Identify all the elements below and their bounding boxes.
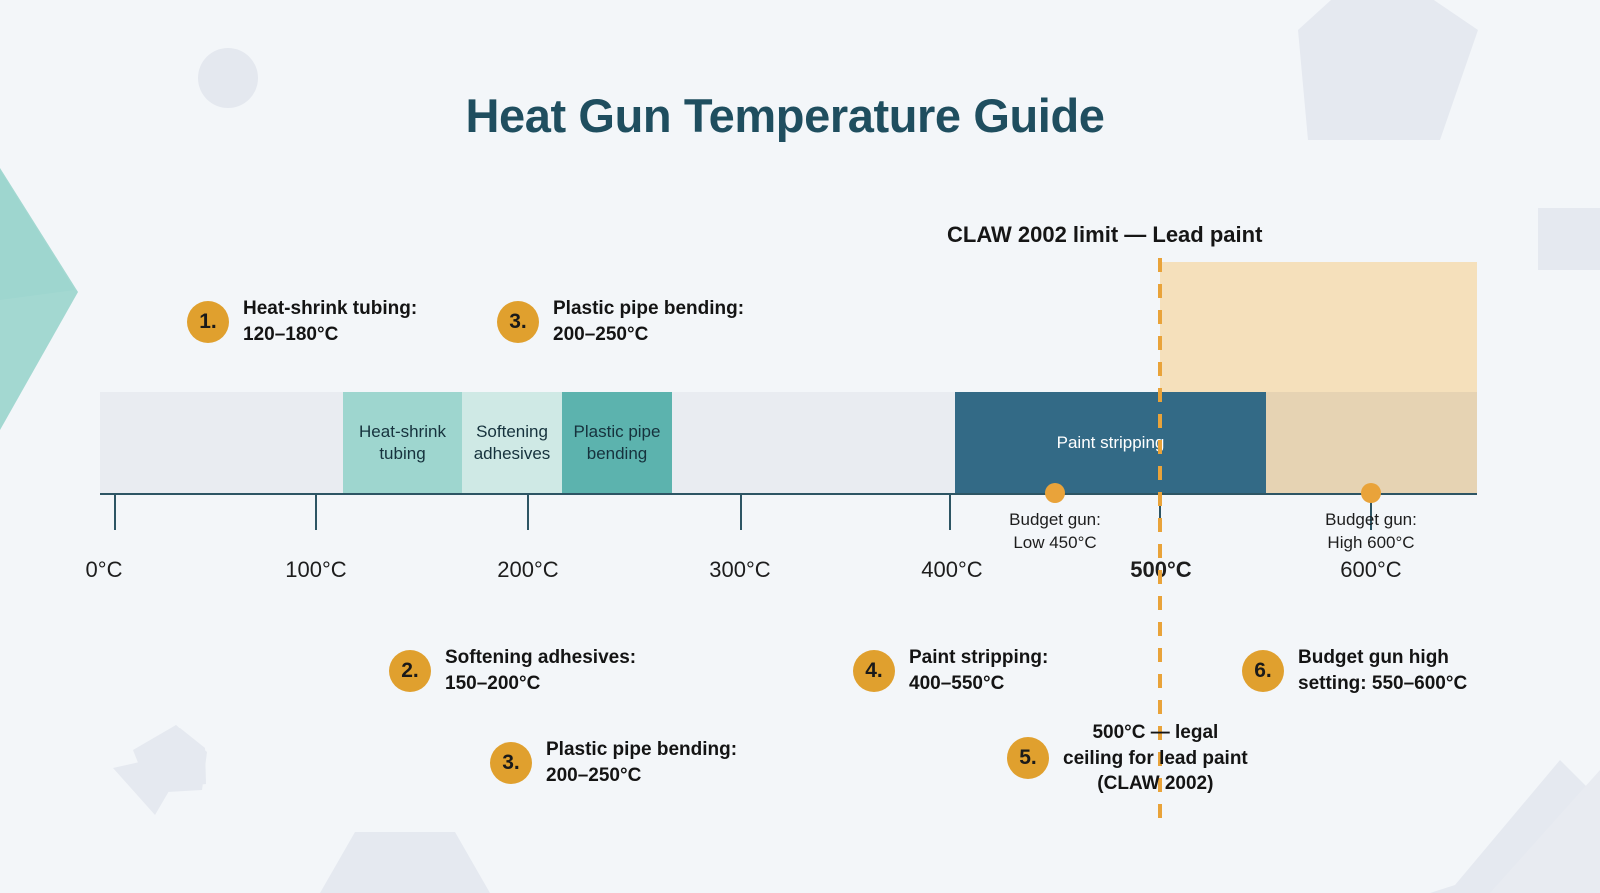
marker-label-budget-high: Budget gun: High 600°C [1325,509,1417,555]
axis-label-300: 300°C [709,557,770,583]
callout-text: Paint stripping: 400–550°C [909,645,1048,696]
callout-badge: 5. [1007,737,1049,779]
callout-6[interactable]: 6. Budget gun high setting: 550–600°C [1242,645,1467,696]
callout-text: Plastic pipe bending: 200–250°C [546,737,737,788]
infographic-canvas: Heat Gun Temperature Guide CLAW 2002 lim… [0,0,1600,893]
callout-text: Plastic pipe bending: 200–250°C [553,296,744,347]
callout-5[interactable]: 5. 500°C — legal ceiling for lead paint … [1007,720,1248,797]
callout-3-top[interactable]: 3. Plastic pipe bending: 200–250°C [497,296,744,347]
axis-label-0: 0°C [86,557,123,583]
callout-text: Softening adhesives: 150–200°C [445,645,636,696]
axis-tick-300 [740,495,742,530]
band-label: Paint stripping [1057,432,1165,453]
callout-badge: 6. [1242,650,1284,692]
callout-1[interactable]: 1. Heat-shrink tubing: 120–180°C [187,296,417,347]
axis-label-100: 100°C [285,557,346,583]
band-paint-stripping: Paint stripping [955,392,1266,493]
claw-limit-header: CLAW 2002 limit — Lead paint [947,222,1262,248]
axis-label-200: 200°C [497,557,558,583]
over-limit-region-lower [1266,392,1477,493]
axis-line [100,493,1477,495]
callout-badge: 1. [187,301,229,343]
callout-badge: 2. [389,650,431,692]
marker-label-budget-low: Budget gun: Low 450°C [1009,509,1101,555]
axis-label-400: 400°C [921,557,982,583]
callout-text: Budget gun high setting: 550–600°C [1298,645,1467,696]
page-title: Heat Gun Temperature Guide [0,88,1570,143]
marker-dot-budget-low [1045,483,1065,503]
callout-badge: 3. [490,742,532,784]
band-label: Heat-shrink tubing [359,421,446,464]
axis-tick-200 [527,495,529,530]
band-label: Softening adhesives [474,421,551,464]
band-label: Plastic pipe bending [574,421,661,464]
axis-label-600: 600°C [1340,557,1401,583]
band-softening-adhesives: Softening adhesives [462,392,562,493]
axis-tick-0 [114,495,116,530]
axis-tick-100 [315,495,317,530]
marker-dot-budget-high [1361,483,1381,503]
callout-2[interactable]: 2. Softening adhesives: 150–200°C [389,645,636,696]
callout-text: 500°C — legal ceiling for lead paint (CL… [1063,720,1248,797]
callout-4[interactable]: 4. Paint stripping: 400–550°C [853,645,1048,696]
band-heat-shrink-tubing: Heat-shrink tubing [343,392,462,493]
band-plastic-pipe-bending: Plastic pipe bending [562,392,672,493]
callout-text: Heat-shrink tubing: 120–180°C [243,296,417,347]
over-limit-region-upper [1160,262,1477,392]
axis-tick-400 [949,495,951,530]
callout-badge: 3. [497,301,539,343]
callout-3-bottom[interactable]: 3. Plastic pipe bending: 200–250°C [490,737,737,788]
callout-badge: 4. [853,650,895,692]
